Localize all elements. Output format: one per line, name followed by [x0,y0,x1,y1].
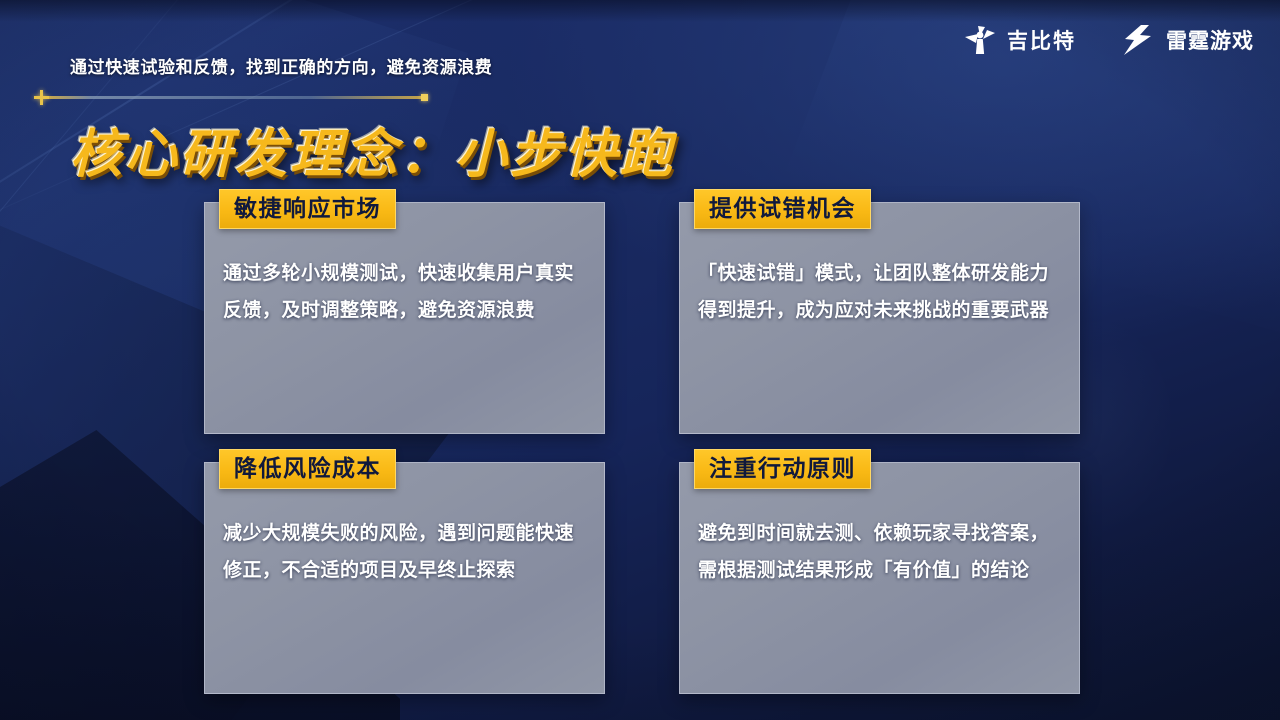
concept-card-grid: 敏捷响应市场 通过多轮小规模测试，快速收集用户真实反馈，及时调整策略，避免资源浪… [204,202,1080,694]
card-title-badge: 提供试错机会 [694,189,871,229]
header-divider-rule [46,96,424,99]
top-shade-band [0,0,1280,22]
logo-jibite: 吉比特 [963,24,1076,56]
concept-card: 注重行动原则 避免到时间就去测、依赖玩家寻找答案，需根据测试结果形成「有价值」的… [679,462,1080,694]
card-body-text: 「快速试错」模式，让团队整体研发能力得到提升，成为应对未来挑战的重要武器 [698,245,1061,329]
logo-group: 吉比特 雷霆游戏 [963,24,1254,56]
pinwheel-icon [963,24,997,56]
card-body-text: 减少大规模失败的风险，遇到问题能快速修正，不合适的项目及早终止探索 [223,505,586,589]
slide-title: 核心研发理念：小步快跑 [70,112,675,187]
logo-jibite-text: 吉比特 [1007,25,1076,55]
concept-card: 敏捷响应市场 通过多轮小规模测试，快速收集用户真实反馈，及时调整策略，避免资源浪… [204,202,605,434]
card-title-badge: 降低风险成本 [219,449,396,489]
slide-subtitle: 通过快速试验和反馈，找到正确的方向，避免资源浪费 [70,53,492,78]
card-title-badge: 注重行动原则 [694,449,871,489]
card-body-text: 通过多轮小规模测试，快速收集用户真实反馈，及时调整策略，避免资源浪费 [223,245,586,329]
presentation-slide: 吉比特 雷霆游戏 通过快速试验和反馈，找到正确的方向，避免资源浪费 核心研发理念… [0,0,1280,720]
concept-card: 降低风险成本 减少大规模失败的风险，遇到问题能快速修正，不合适的项目及早终止探索 [204,462,605,694]
card-body-text: 避免到时间就去测、依赖玩家寻找答案，需根据测试结果形成「有价值」的结论 [698,505,1061,589]
logo-leiting: 雷霆游戏 [1120,24,1254,56]
logo-leiting-text: 雷霆游戏 [1166,25,1254,55]
card-title-badge: 敏捷响应市场 [219,189,396,229]
concept-card: 提供试错机会 「快速试错」模式，让团队整体研发能力得到提升，成为应对未来挑战的重… [679,202,1080,434]
lightning-bolt-icon [1120,24,1156,56]
